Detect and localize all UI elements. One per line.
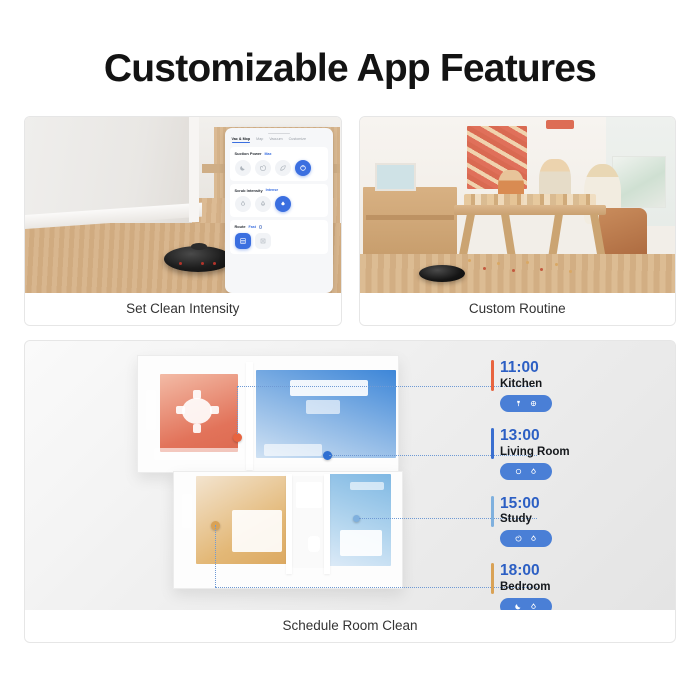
route-value: Fast <box>249 225 256 229</box>
info-icon[interactable] <box>259 225 262 228</box>
robot-indicator-lights <box>179 262 182 265</box>
kitchen-dining-table <box>182 398 212 424</box>
suction-power-options[interactable] <box>235 160 323 176</box>
app-tab-bar[interactable]: Vac & Mop Map Vacuum Customize <box>230 137 328 144</box>
wooden-sideboard <box>363 187 458 257</box>
suction-icon <box>514 399 523 408</box>
scrub-option-mid[interactable] <box>255 196 271 212</box>
route-options[interactable] <box>235 233 323 249</box>
schedule-time: 15:00 <box>500 495 599 513</box>
tab-customize[interactable]: Customize <box>289 137 306 141</box>
scrub-intensity-header: Scrub Intensity Intense <box>235 188 323 193</box>
suction-option-standard[interactable] <box>255 160 271 176</box>
schedule-mode-pill[interactable] <box>500 530 552 547</box>
section-suction-power: Suction Power Max <box>230 147 328 181</box>
route-label: Route <box>235 224 246 229</box>
sideboard-shelf <box>366 215 454 219</box>
kitchen-chair-1 <box>176 406 185 414</box>
wall-between-kitchen-living <box>246 362 253 470</box>
route-option-fast[interactable] <box>235 233 251 249</box>
schedule-room-name: Kitchen <box>500 378 599 390</box>
schedule-room-name: Study <box>500 513 599 525</box>
wall-art-small <box>546 120 574 129</box>
floor-crumbs <box>464 254 584 279</box>
schedule-accent-bar <box>491 360 494 391</box>
caption-schedule-room-clean: Schedule Room Clean <box>25 610 675 642</box>
deep-route-icon <box>259 237 267 245</box>
schedule-accent-bar <box>491 563 494 594</box>
swirl-icon <box>259 164 267 172</box>
leader-bedroom <box>215 587 537 588</box>
max-power-icon <box>299 164 307 172</box>
schedule-accent-bar <box>491 496 494 527</box>
kitchen-counter <box>154 448 244 460</box>
scrub-intensity-options[interactable] <box>235 196 323 212</box>
kitchen-chair-3 <box>193 390 201 399</box>
card-schedule-room-clean[interactable]: 11:00 Kitchen 13:00 Living Room <box>24 340 676 643</box>
living-sofa <box>290 380 368 396</box>
tab-vacuum[interactable]: Vacuum <box>269 137 282 141</box>
card-custom-routine[interactable]: Custom Routine <box>359 116 677 326</box>
moon-icon <box>239 164 247 172</box>
grid-route-icon <box>239 237 247 245</box>
swirl-icon <box>514 534 523 543</box>
study-shelf <box>350 482 384 490</box>
schedule-visual-area: 11:00 Kitchen 13:00 Living Room <box>25 341 675 610</box>
schedule-item-living-room[interactable]: 13:00 Living Room <box>491 427 599 480</box>
schedule-time: 18:00 <box>500 562 599 580</box>
route-option-deep[interactable] <box>255 233 271 249</box>
schedule-mode-pill[interactable] <box>500 598 552 610</box>
caption-set-clean-intensity: Set Clean Intensity <box>25 293 341 325</box>
study-desk <box>340 530 382 556</box>
lidar-turret-icon <box>191 243 207 250</box>
schedule-item-study[interactable]: 15:00 Study <box>491 495 599 548</box>
schedule-accent-bar <box>491 428 494 459</box>
floorplan-3d[interactable] <box>135 353 435 593</box>
schedule-mode-pill[interactable] <box>500 395 552 412</box>
bathroom-tub <box>296 482 322 508</box>
door-frame <box>189 117 198 223</box>
bedroom-bed <box>232 510 282 552</box>
schedule-time: 13:00 <box>500 427 599 445</box>
suction-power-label: Suction Power <box>235 151 262 156</box>
app-control-panel[interactable]: Vac & Mop Map Vacuum Customize Suction P… <box>225 128 333 293</box>
schedule-mode-pill[interactable] <box>500 463 552 480</box>
schedule-item-kitchen[interactable]: 11:00 Kitchen <box>491 359 599 412</box>
droplet-icon <box>529 602 538 610</box>
top-card-row: Vac & Mop Map Vacuum Customize Suction P… <box>0 91 700 326</box>
picture-frame <box>375 163 416 191</box>
schedule-list[interactable]: 11:00 Kitchen 13:00 Living Room <box>491 359 599 610</box>
scrub-intensity-value: Intense <box>266 188 279 192</box>
suction-option-moon[interactable] <box>235 160 251 176</box>
schedule-time: 11:00 <box>500 359 599 377</box>
dining-table <box>454 205 605 215</box>
scrub-option-intense[interactable] <box>275 196 291 212</box>
schedule-room-name: Living Room <box>500 446 599 458</box>
page-title: Customizable App Features <box>0 0 700 91</box>
scrub-intensity-label: Scrub Intensity <box>235 188 263 193</box>
wall-bedroom-bathroom <box>286 474 292 574</box>
scrub-icon <box>529 399 538 408</box>
schedule-item-bedroom[interactable]: 18:00 Bedroom <box>491 562 599 610</box>
kitchen-window <box>146 390 156 430</box>
section-route: Route Fast <box>230 220 328 254</box>
robot-vacuum <box>164 246 232 272</box>
suction-option-max[interactable] <box>295 160 311 176</box>
route-header: Route Fast <box>235 224 323 229</box>
suction-power-header: Suction Power Max <box>235 151 323 156</box>
kitchen-chair-2 <box>210 406 219 414</box>
tab-vac-and-mop[interactable]: Vac & Mop <box>232 137 251 141</box>
floorplan-lower-level <box>173 471 403 589</box>
waypoint-kitchen[interactable] <box>233 433 242 442</box>
leader-bedroom-vertical <box>215 525 216 587</box>
tab-map[interactable]: Map <box>256 137 263 141</box>
living-rug <box>264 444 322 456</box>
kitchen-chair-4 <box>193 424 201 433</box>
suction-power-value: Max <box>265 152 272 156</box>
mop-icon <box>529 467 538 476</box>
droplet-intense-icon <box>279 200 287 208</box>
panel-drag-handle[interactable] <box>268 133 290 135</box>
droplet-low-icon <box>239 200 247 208</box>
scrub-option-low[interactable] <box>235 196 251 212</box>
schedule-room-name: Bedroom <box>500 581 599 593</box>
bedroom-window <box>182 494 192 528</box>
card-set-clean-intensity[interactable]: Vac & Mop Map Vacuum Customize Suction P… <box>24 116 342 326</box>
wall-bathroom-study <box>324 474 330 574</box>
droplet-mid-icon <box>259 200 267 208</box>
droplet-icon <box>529 534 538 543</box>
leaf-icon <box>279 164 287 172</box>
scene-family-dining <box>360 117 676 293</box>
section-scrub-intensity: Scrub Intensity Intense <box>230 184 328 218</box>
caption-custom-routine: Custom Routine <box>360 293 676 325</box>
leader-kitchen-vertical <box>237 386 238 434</box>
bathroom-toilet <box>308 536 320 552</box>
card-media-robot-scene: Vac & Mop Map Vacuum Customize Suction P… <box>25 117 341 293</box>
card-media-dining-scene <box>360 117 676 293</box>
suction-option-turbo[interactable] <box>275 160 291 176</box>
moon-icon <box>514 602 523 610</box>
living-coffee-table <box>306 400 340 414</box>
route-icon <box>514 467 523 476</box>
